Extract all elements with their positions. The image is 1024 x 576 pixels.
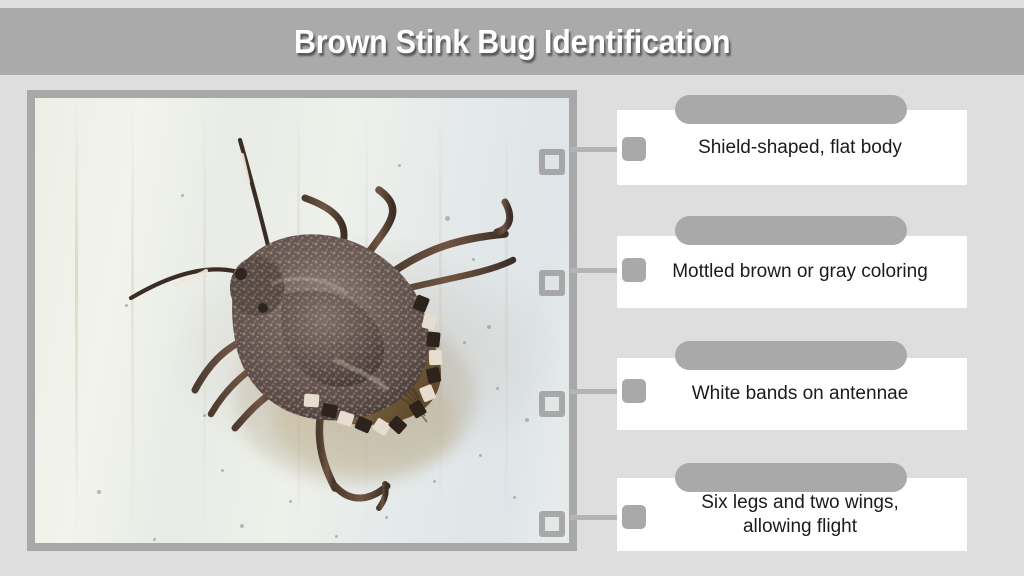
feature-marker-2[interactable] — [622, 258, 646, 282]
feature-card-2[interactable]: Mottled brown or gray coloring — [617, 236, 967, 308]
feature-pill-2 — [675, 216, 907, 245]
stink-bug-photo — [35, 98, 569, 543]
slide-root: Brown Stink Bug Identification — [0, 0, 1024, 576]
title-banner: Brown Stink Bug Identification — [0, 8, 1024, 75]
feature-pill-1 — [675, 95, 907, 124]
photo-marker-3[interactable] — [539, 391, 565, 417]
page-title: Brown Stink Bug Identification — [294, 23, 730, 61]
stink-bug-illustration — [35, 98, 569, 543]
feature-marker-4[interactable] — [622, 505, 646, 529]
feature-marker-1[interactable] — [622, 137, 646, 161]
feature-card-1-label: Shield-shaped, flat body — [664, 136, 920, 160]
photo-marker-4[interactable] — [539, 511, 565, 537]
feature-card-4-line2: allowing flight — [743, 516, 857, 537]
feature-marker-3[interactable] — [622, 379, 646, 403]
feature-card-4-label: Six legs and two wings, allowing flight — [667, 491, 917, 539]
feature-pill-3 — [675, 341, 907, 370]
photo-frame — [27, 90, 577, 551]
photo-marker-2[interactable] — [539, 270, 565, 296]
photo-marker-1[interactable] — [539, 149, 565, 175]
feature-card-4-line1: Six legs and two wings, — [701, 492, 899, 513]
feature-card-3-label: White bands on antennae — [658, 382, 927, 406]
feature-card-2-label: Mottled brown or gray coloring — [638, 260, 946, 284]
feature-pill-4 — [675, 463, 907, 492]
